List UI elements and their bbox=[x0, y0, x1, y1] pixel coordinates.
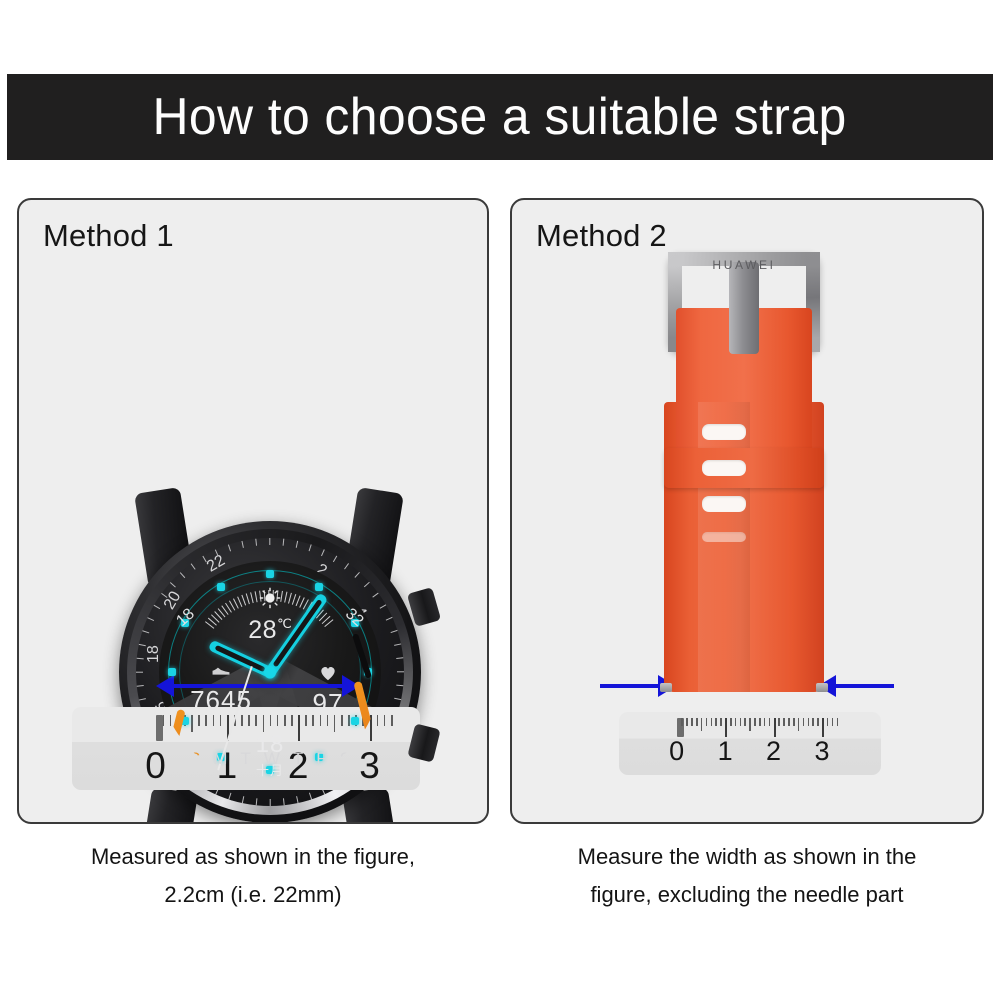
arrow-shaft-right bbox=[836, 684, 894, 688]
ruler-tick bbox=[163, 715, 165, 726]
weekday-3: W bbox=[264, 749, 280, 769]
bezel-tick bbox=[269, 799, 270, 806]
ruler-tick bbox=[377, 715, 379, 726]
ruler-tick bbox=[783, 718, 785, 726]
arrow-shaft-left bbox=[600, 684, 658, 688]
bezel-tick bbox=[147, 617, 154, 621]
ruler-tick bbox=[391, 715, 393, 726]
caption-line-2: 2.2cm (i.e. 22mm) bbox=[17, 876, 489, 914]
ruler-tick bbox=[205, 715, 207, 726]
ruler-tick bbox=[715, 718, 717, 726]
caption-line-2: figure, excluding the needle part bbox=[510, 876, 984, 914]
watch-case: 246810121416182022 18 32 bbox=[119, 521, 421, 823]
bezel-tick bbox=[255, 539, 257, 546]
ruler-number-0: 0 bbox=[664, 736, 690, 767]
ruler-tick bbox=[788, 718, 790, 726]
ruler-tick bbox=[730, 718, 732, 726]
page-root: How to choose a suitable strap Method 1 … bbox=[0, 0, 1000, 1000]
bezel-tick bbox=[354, 572, 360, 578]
ruler-tick bbox=[754, 718, 756, 726]
method-1-panel: Method 1 246810121416182022 bbox=[17, 198, 489, 824]
bezel-tick bbox=[269, 538, 270, 545]
weekday-2: T bbox=[240, 749, 250, 769]
caption-method-2: Measure the width as shown in the figure… bbox=[510, 838, 984, 914]
bezel-tick bbox=[139, 643, 146, 646]
ruler-tick bbox=[241, 715, 243, 726]
strap-center-ridge bbox=[698, 402, 750, 692]
watch-dial: 18 32 bbox=[159, 561, 381, 783]
ruler-tick bbox=[191, 715, 193, 732]
bezel-tick bbox=[296, 796, 299, 803]
bezel-tick bbox=[386, 617, 393, 621]
bezel-tick bbox=[180, 572, 186, 578]
ruler-tick bbox=[277, 715, 279, 726]
bezel-tick bbox=[321, 549, 325, 556]
ruler-tick bbox=[696, 718, 698, 726]
bezel-tick bbox=[283, 539, 285, 546]
bezel-tick bbox=[255, 798, 257, 805]
ruler-tick bbox=[248, 715, 250, 726]
method-2-label: Method 2 bbox=[536, 218, 667, 254]
dial-steps-value: 7645 bbox=[190, 685, 252, 715]
ruler-tick bbox=[701, 718, 703, 731]
ruler-tick-track bbox=[619, 712, 881, 775]
ruler-tick bbox=[837, 718, 839, 726]
ruler-tick bbox=[740, 718, 742, 726]
ruler-tick bbox=[774, 718, 776, 737]
arrow-head-left bbox=[156, 675, 174, 697]
bezel-tick bbox=[391, 630, 398, 633]
bezel-tick bbox=[333, 556, 338, 563]
ruler-tick bbox=[827, 718, 829, 726]
strap-illustration: HUAWEI bbox=[634, 252, 854, 694]
method-2-panel: Method 2 HUAWEI 0123 bbox=[510, 198, 984, 824]
bezel-tick bbox=[344, 563, 349, 569]
ruler-tick bbox=[735, 718, 737, 726]
ruler-tick bbox=[170, 715, 172, 726]
buckle-brand-text: HUAWEI bbox=[668, 258, 820, 272]
ruler-tick bbox=[270, 715, 272, 726]
dial-temperature-unit: ℃ bbox=[277, 616, 292, 631]
ruler-tick bbox=[706, 718, 708, 726]
bezel-tick bbox=[137, 657, 144, 659]
strap-pin-right bbox=[816, 683, 828, 692]
ruler-tick bbox=[778, 718, 780, 726]
strap-hole-3 bbox=[702, 496, 746, 512]
dial-temperature: 28 bbox=[248, 616, 277, 644]
dial-weekday-row: SMTWTFS bbox=[159, 749, 381, 769]
dial-heartrate-value: 97 bbox=[313, 688, 344, 718]
ruler-tick bbox=[711, 718, 713, 726]
ruler-method-2: 0123 bbox=[619, 712, 881, 775]
buckle-tongue bbox=[729, 262, 759, 354]
ruler-tick bbox=[798, 718, 800, 731]
heart-icon bbox=[285, 665, 371, 686]
ruler-tick bbox=[198, 715, 200, 726]
bezel-tick bbox=[136, 671, 143, 672]
dial-steps-complication: 7645 bbox=[173, 665, 269, 716]
weekday-1: M bbox=[213, 749, 227, 769]
ruler-tick bbox=[812, 718, 814, 726]
bezel-tick bbox=[228, 793, 231, 800]
caption-method-1: Measured as shown in the figure, 2.2cm (… bbox=[17, 838, 489, 914]
bezel-tick bbox=[394, 643, 401, 646]
ruler-tick bbox=[720, 718, 722, 726]
bezel-tick bbox=[309, 544, 312, 551]
title-banner: How to choose a suitable strap bbox=[7, 74, 993, 160]
ruler-number-3: 3 bbox=[809, 736, 835, 767]
dial-center-pin bbox=[264, 666, 276, 678]
ruler-tick bbox=[213, 715, 215, 726]
weekday-0: S bbox=[189, 749, 200, 769]
bezel-tick bbox=[396, 685, 403, 687]
bezel-tick bbox=[228, 544, 231, 551]
ruler-tick bbox=[220, 715, 222, 726]
caption-line-1: Measured as shown in the figure, bbox=[17, 838, 489, 876]
bezel-tick bbox=[241, 796, 244, 803]
dial-marker-0 bbox=[266, 570, 274, 578]
ruler-tick bbox=[817, 718, 819, 726]
page-title: How to choose a suitable strap bbox=[153, 87, 847, 147]
bezel-tick bbox=[137, 685, 144, 687]
strap-pin-left bbox=[660, 683, 672, 692]
bezel-tick bbox=[309, 793, 312, 800]
method-1-label: Method 1 bbox=[43, 218, 174, 254]
ruler-tick bbox=[803, 718, 805, 726]
bezel-tick bbox=[296, 541, 299, 548]
ruler-tick bbox=[725, 718, 727, 737]
ruler-tick bbox=[759, 718, 761, 726]
ruler-tick bbox=[744, 718, 746, 726]
ruler-tick bbox=[691, 718, 693, 726]
ruler-tick bbox=[808, 718, 810, 726]
bezel-tick bbox=[394, 698, 401, 701]
ruler-tick bbox=[686, 718, 688, 726]
ruler-number-1: 1 bbox=[712, 736, 738, 767]
ruler-tick bbox=[681, 718, 683, 726]
ruler-tick bbox=[822, 718, 824, 737]
strap-hole-4 bbox=[702, 532, 746, 542]
bezel-tick bbox=[142, 630, 149, 633]
bezel-tick bbox=[139, 698, 146, 701]
bezel-tick bbox=[241, 541, 244, 548]
shoe-icon bbox=[173, 665, 269, 683]
weekday-5: F bbox=[316, 749, 326, 769]
ruler-tick bbox=[255, 715, 257, 726]
ruler-tick bbox=[793, 718, 795, 726]
ruler-tick bbox=[764, 718, 766, 726]
ruler-tick bbox=[263, 715, 265, 732]
bezel-tick bbox=[283, 798, 285, 805]
weekday-6: S bbox=[340, 749, 351, 769]
ruler-tick bbox=[749, 718, 751, 731]
ruler-tick bbox=[769, 718, 771, 726]
weekday-4: T bbox=[293, 749, 303, 769]
bezel-tick bbox=[397, 671, 404, 672]
caption-line-1: Measure the width as shown in the bbox=[510, 838, 984, 876]
ruler-number-2: 2 bbox=[760, 736, 786, 767]
strap-hole-2 bbox=[702, 460, 746, 476]
bezel-tick bbox=[191, 563, 196, 569]
ruler-tick bbox=[384, 715, 386, 726]
bezel-tick bbox=[396, 657, 403, 659]
ruler-tick bbox=[832, 718, 834, 726]
dial-weather-complication: 28℃ bbox=[159, 587, 381, 645]
dial-heartrate-complication: 97 bbox=[285, 665, 371, 719]
strap-hole-1 bbox=[702, 424, 746, 440]
sun-icon bbox=[159, 587, 381, 614]
